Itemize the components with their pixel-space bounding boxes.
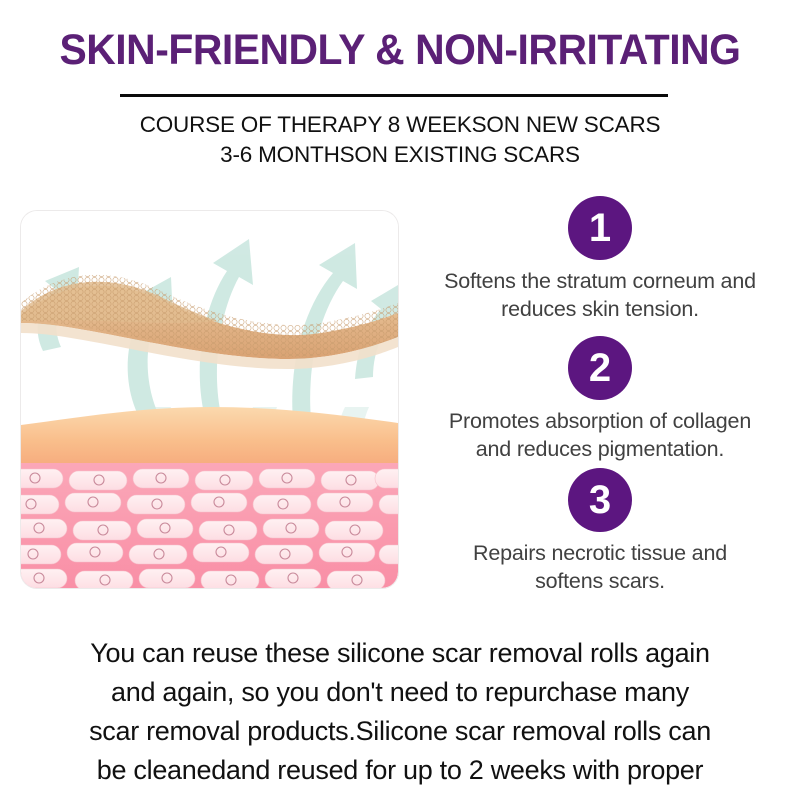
description-line-2: and again, so you don't need to repurcha…: [0, 673, 800, 712]
benefit-text-3: Repairs necrotic tissue and softens scar…: [400, 539, 800, 595]
benefit-text-1-line-2: reduces skin tension.: [406, 295, 794, 323]
benefits-list: 1 Softens the stratum corneum and reduce…: [400, 196, 800, 596]
infographic-page: SKIN-FRIENDLY & NON-IRRITATING COURSE OF…: [0, 0, 800, 800]
benefit-item-1: 1 Softens the stratum corneum and reduce…: [400, 196, 800, 323]
benefit-text-1-line-1: Softens the stratum corneum and: [406, 267, 794, 295]
description-paragraph: You can reuse these silicone scar remova…: [0, 634, 800, 790]
step-badge-2: 2: [568, 336, 632, 400]
subtitle-line-2: 3-6 MONTHSON EXISTING SCARS: [0, 140, 800, 170]
page-title: SKIN-FRIENDLY & NON-IRRITATING: [20, 26, 780, 75]
subtitle-line-1: COURSE OF THERAPY 8 WEEKSON NEW SCARS: [0, 110, 800, 140]
description-line-1: You can reuse these silicone scar remova…: [0, 634, 800, 673]
benefit-item-3: 3 Repairs necrotic tissue and softens sc…: [400, 468, 800, 595]
benefit-text-3-line-2: softens scars.: [406, 567, 794, 595]
benefit-text-1: Softens the stratum corneum and reduces …: [400, 267, 800, 323]
benefit-text-2-line-2: and reduces pigmentation.: [406, 435, 794, 463]
title-divider: [120, 94, 668, 97]
subtitle-block: COURSE OF THERAPY 8 WEEKSON NEW SCARS 3-…: [0, 110, 800, 170]
benefit-text-3-line-1: Repairs necrotic tissue and: [406, 539, 794, 567]
skin-cross-section-icon: [21, 211, 398, 588]
description-line-4: be cleanedand reused for up to 2 weeks w…: [0, 751, 800, 790]
benefit-item-2: 2 Promotes absorption of collagen and re…: [400, 336, 800, 463]
step-badge-1: 1: [568, 196, 632, 260]
benefit-text-2: Promotes absorption of collagen and redu…: [400, 407, 800, 463]
skin-diagram-panel: [21, 211, 398, 588]
step-badge-3: 3: [568, 468, 632, 532]
benefit-text-2-line-1: Promotes absorption of collagen: [406, 407, 794, 435]
description-line-3: scar removal products.Silicone scar remo…: [0, 712, 800, 751]
